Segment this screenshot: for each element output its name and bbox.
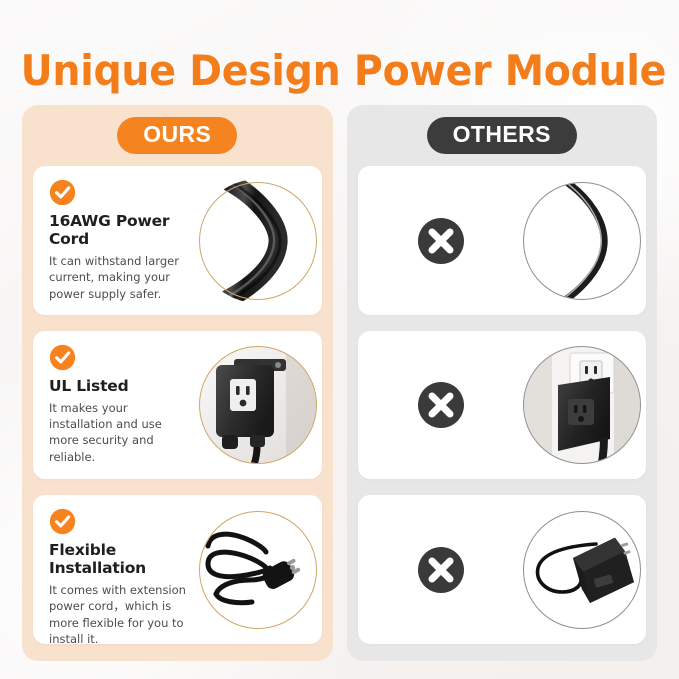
ours-card-2[interactable]: UL Listed It makes your installation and… — [33, 331, 322, 480]
others-card-3-media — [518, 495, 646, 644]
ours-card-1-title: 16AWG Power Cord — [49, 213, 188, 249]
page-background: Unique Design Power Module OURS 16AW — [0, 0, 679, 679]
ours-card-3[interactable]: Flexible Installation It comes with exte… — [33, 495, 322, 644]
ours-card-1[interactable]: 16AWG Power Cord It can withstand larger… — [33, 166, 322, 315]
panel-others: OTHERS — [347, 105, 658, 661]
gold-ring-outline — [199, 346, 317, 464]
ours-card-list: 16AWG Power Cord It can withstand larger… — [33, 166, 322, 644]
ours-card-1-desc: It can withstand larger current, making … — [49, 253, 188, 302]
others-card-3-mark — [358, 495, 519, 644]
others-card-3[interactable] — [358, 495, 647, 644]
others-card-2[interactable] — [358, 331, 647, 480]
check-circle-icon — [49, 344, 76, 371]
x-circle-icon — [417, 546, 465, 594]
ours-card-2-media — [194, 331, 322, 480]
badge-ours: OURS — [117, 117, 237, 154]
others-card-1[interactable] — [358, 166, 647, 315]
check-circle-icon — [49, 179, 76, 206]
ours-card-1-text: 16AWG Power Cord It can withstand larger… — [33, 166, 194, 315]
others-card-2-mark — [358, 331, 519, 480]
gray-ring-outline — [523, 511, 641, 629]
ours-card-1-media — [194, 166, 322, 315]
ours-card-2-title: UL Listed — [49, 378, 188, 396]
check-circle-icon — [49, 508, 76, 535]
ours-card-2-text: UL Listed It makes your installation and… — [33, 331, 194, 480]
others-card-2-media — [518, 331, 646, 480]
page-title: Unique Design Power Module — [21, 48, 667, 93]
others-card-list — [358, 166, 647, 644]
x-circle-icon — [417, 217, 465, 265]
gray-ring-outline — [523, 182, 641, 300]
panel-ours: OURS 16AWG Power Cord It can withstand l… — [22, 105, 333, 661]
others-card-1-media — [518, 166, 646, 315]
ours-card-3-media — [194, 495, 322, 644]
ours-card-3-title: Flexible Installation — [49, 542, 188, 578]
gray-ring-outline — [523, 346, 641, 464]
ours-card-2-desc: It makes your installation and use more … — [49, 400, 188, 465]
comparison-columns: OURS 16AWG Power Cord It can withstand l… — [22, 105, 657, 661]
badge-others: OTHERS — [427, 117, 577, 154]
gold-ring-outline — [199, 182, 317, 300]
others-card-1-mark — [358, 166, 519, 315]
gold-ring-outline — [199, 511, 317, 629]
ours-card-3-desc: It comes with extension power cord，which… — [49, 582, 188, 644]
ours-card-3-text: Flexible Installation It comes with exte… — [33, 495, 194, 644]
x-circle-icon — [417, 381, 465, 429]
